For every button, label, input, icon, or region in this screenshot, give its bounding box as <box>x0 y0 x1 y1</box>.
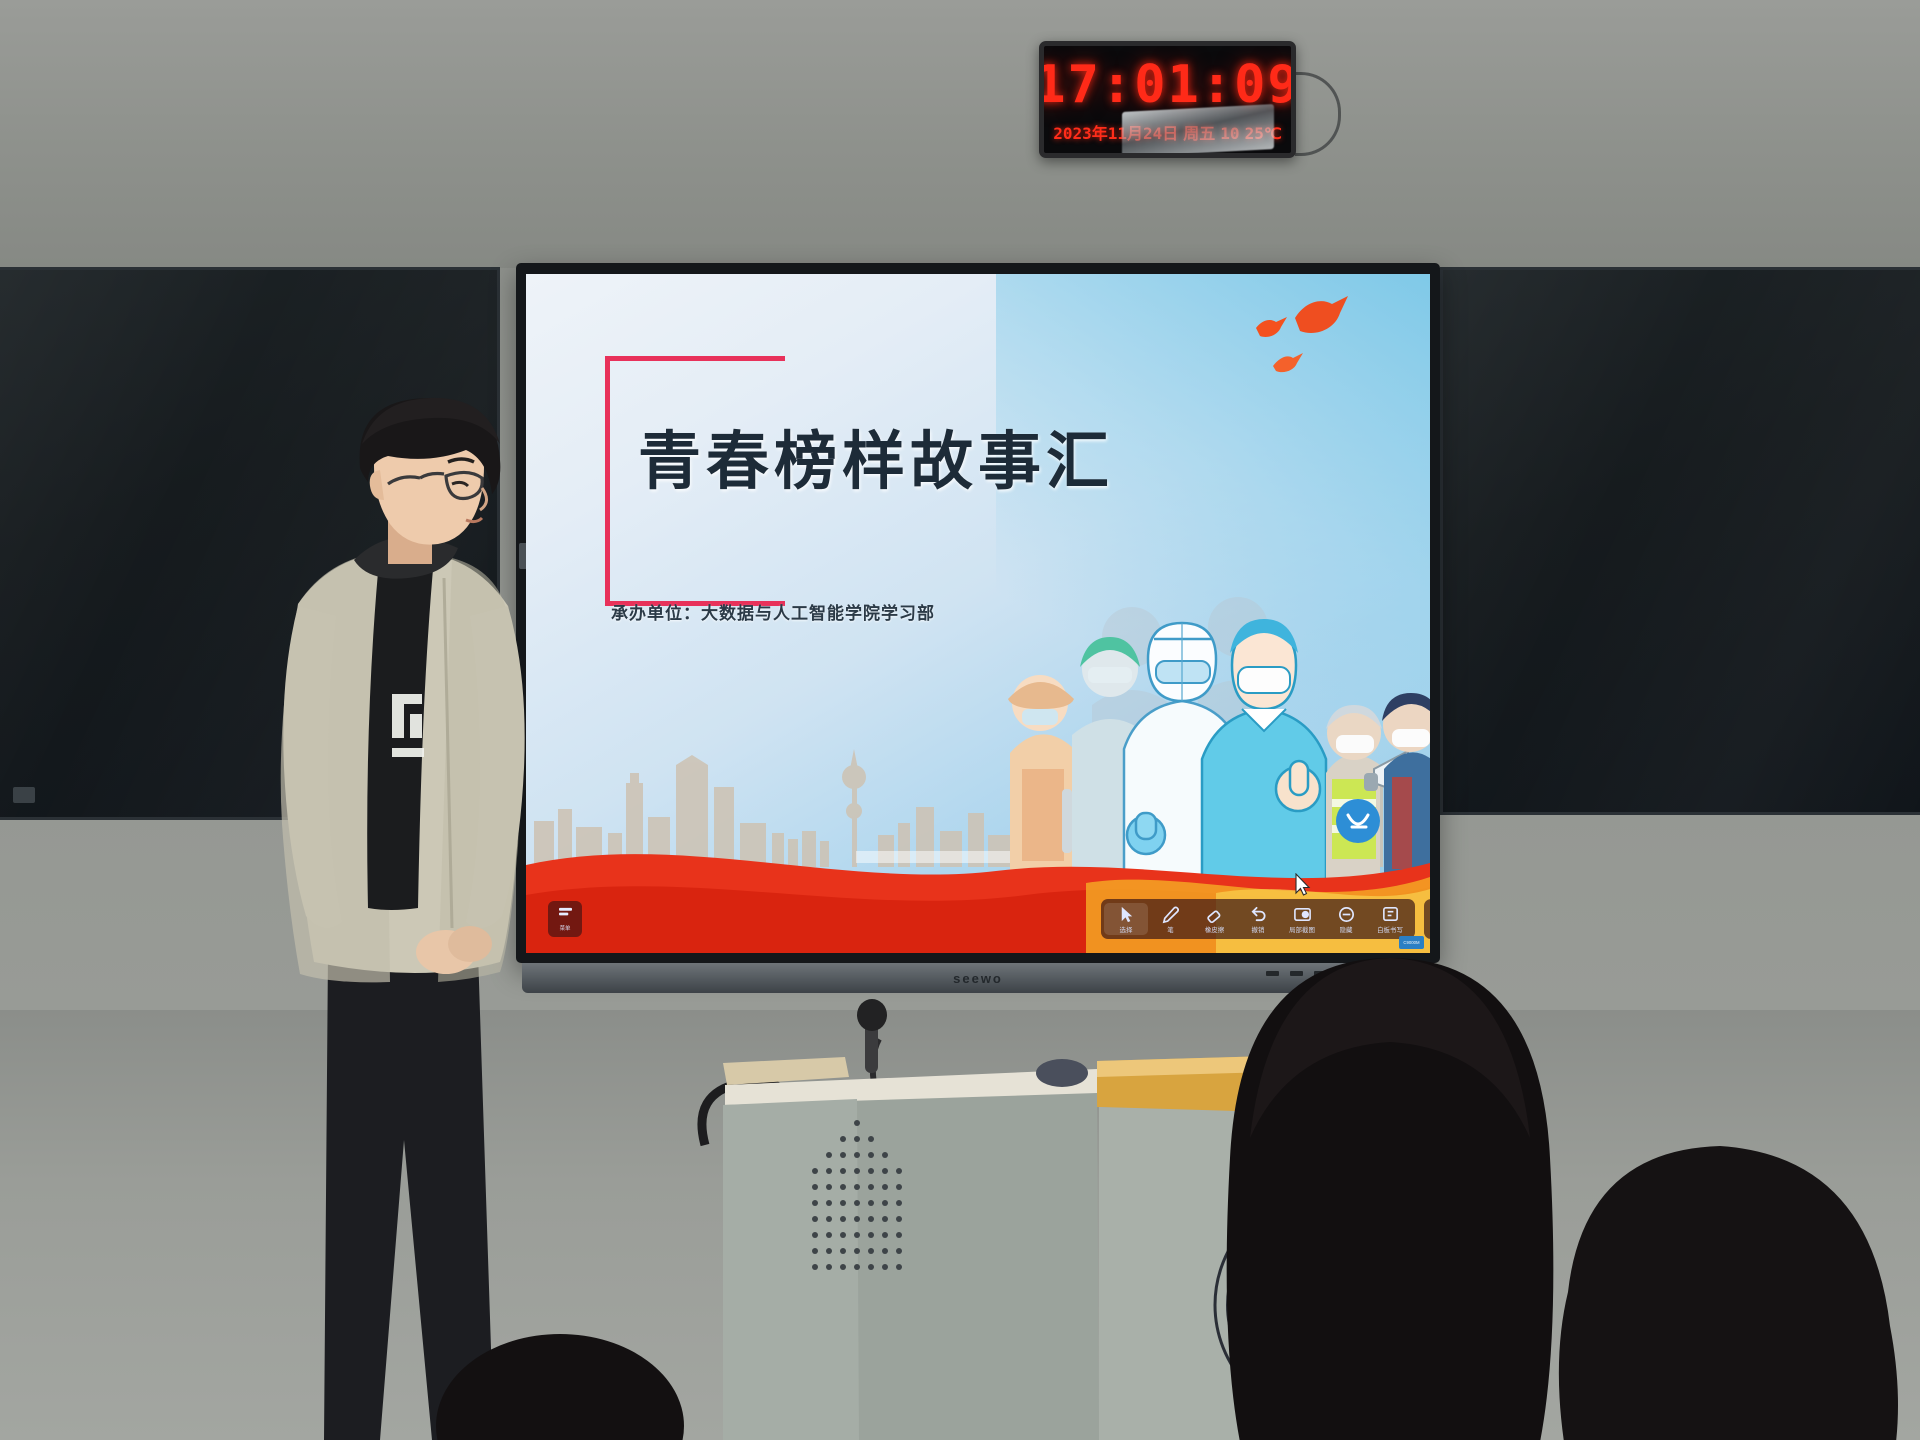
audience-head-center <box>1190 952 1590 1440</box>
screenshot-tool-label: 局部截图 <box>1289 927 1315 933</box>
mouse-cursor-icon <box>1294 873 1312 897</box>
camera-icon <box>1293 905 1312 924</box>
dove-icon-3 <box>1272 352 1304 375</box>
whiteboard-toolbar[interactable]: 选择 笔 <box>1101 899 1430 939</box>
hide-tool-label: 隐藏 <box>1340 927 1353 933</box>
smartboard-brand-logo: seewo <box>953 971 1003 986</box>
pen-tool-button[interactable]: 笔 <box>1148 903 1192 935</box>
dove-icon-1 <box>1254 316 1288 342</box>
taskbar-item[interactable]: C9000M <box>1399 936 1424 949</box>
undo-tool-label: 撤销 <box>1252 927 1265 933</box>
pen-tool-label: 笔 <box>1167 927 1173 933</box>
blackboard-clip <box>13 787 35 803</box>
os-taskbar[interactable]: C9000M <box>1399 935 1424 950</box>
pen-icon <box>1161 905 1180 924</box>
hide-tool-button[interactable]: 隐藏 <box>1324 903 1368 935</box>
taskbar-label: C9000M <box>1404 940 1420 945</box>
blackboard-right <box>1440 267 1920 815</box>
eraser-tool-button[interactable]: 橡皮擦 <box>1192 903 1236 935</box>
minus-circle-icon <box>1337 905 1356 924</box>
toolbar-tools-group[interactable]: 选择 笔 <box>1101 899 1415 939</box>
undo-icon <box>1249 905 1268 924</box>
wall-upper <box>0 0 1920 268</box>
slide-title: 青春榜样故事汇 <box>638 411 1198 502</box>
presentation-slide[interactable]: 青春榜样故事汇 承办单位：大数据与人工智能学院学习部 <box>526 274 1430 953</box>
slide-menu-label: 菜单 <box>560 923 571 931</box>
eraser-icon <box>1205 905 1224 924</box>
cursor-icon <box>1117 905 1136 924</box>
menu-icon <box>558 907 573 920</box>
presenter-person <box>276 392 536 1440</box>
clock-glare-reflection <box>1122 104 1274 157</box>
select-tool-label: 选择 <box>1120 927 1133 933</box>
clock-time: 17:01:09 <box>1039 59 1296 111</box>
dove-icon-2 <box>1292 294 1350 340</box>
slide-menu-button[interactable]: 菜单 <box>548 901 582 937</box>
interactive-smartboard[interactable]: 青春榜样故事汇 承办单位：大数据与人工智能学院学习部 <box>516 263 1440 1003</box>
audience-head-left <box>430 1330 690 1440</box>
select-tool-button[interactable]: 选择 <box>1104 903 1148 935</box>
blackboard-right-sheen <box>1443 270 1920 812</box>
whiteboard-tool-label: 白板书写 <box>1377 927 1403 933</box>
toolbar-pagination-group[interactable]: 上一页 1/5 页面 <box>1424 899 1430 939</box>
eraser-tool-label: 橡皮擦 <box>1204 927 1223 933</box>
slide-subtitle: 承办单位：大数据与人工智能学院学习部 <box>611 599 935 624</box>
audience-head-right <box>1540 1142 1920 1440</box>
whiteboard-tool-button[interactable]: 白板书写 <box>1368 903 1412 935</box>
smartboard-screen[interactable]: 青春榜样故事汇 承办单位：大数据与人工智能学院学习部 <box>526 274 1430 953</box>
classroom-scene: 17:01:09 2023年11月24日 周五 10 25℃ <box>0 0 1920 1440</box>
smartboard-bezel: 青春榜样故事汇 承办单位：大数据与人工智能学院学习部 <box>516 263 1440 963</box>
screenshot-tool-button[interactable]: 局部截图 <box>1280 903 1324 935</box>
undo-tool-button[interactable]: 撤销 <box>1236 903 1280 935</box>
digital-wall-clock: 17:01:09 2023年11月24日 周五 10 25℃ <box>1039 41 1296 158</box>
prev-page-button[interactable]: 上一页 <box>1427 903 1430 935</box>
board-icon <box>1381 905 1400 924</box>
